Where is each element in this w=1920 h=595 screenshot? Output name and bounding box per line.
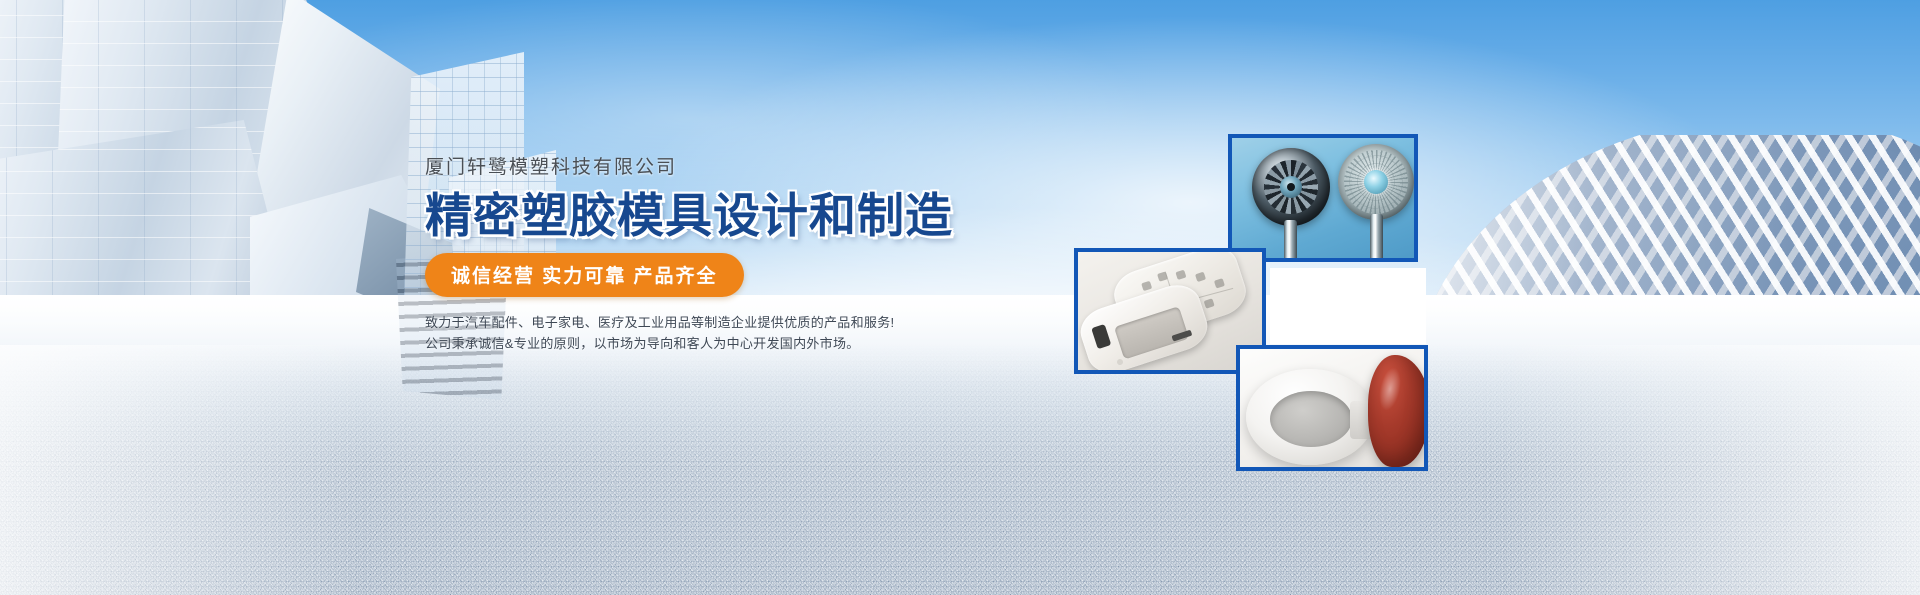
hero-banner: 厦门轩鹭模塑科技有限公司 精密塑胶模具设计和制造 诚信经营 实力可靠 产品齐全 … xyxy=(0,0,1920,595)
slogan-badge: 诚信经营 实力可靠 产品齐全 xyxy=(425,253,744,297)
white-filler-card xyxy=(1270,268,1426,344)
description-line-2: 公司秉承诚信&专业的原则，以市场为导向和客人为中心开发国内外市场。 xyxy=(425,333,895,354)
hero-copy-block: 厦门轩鹭模塑科技有限公司 精密塑胶模具设计和制造 诚信经营 实力可靠 产品齐全 … xyxy=(425,158,895,354)
product-photo-toilet-seat[interactable] xyxy=(1236,345,1428,471)
description-line-1: 致力于汽车配件、电子家电、医疗及工业用品等制造企业提供优质的产品和服务! xyxy=(425,312,895,333)
headline: 精密塑胶模具设计和制造 xyxy=(425,191,895,240)
description-text: 致力于汽车配件、电子家电、医疗及工业用品等制造企业提供优质的产品和服务! 公司秉… xyxy=(425,312,895,354)
company-name: 厦门轩鹭模塑科技有限公司 xyxy=(425,158,895,177)
concrete-ground xyxy=(0,295,1920,595)
product-photo-shower-heads[interactable] xyxy=(1228,134,1418,262)
